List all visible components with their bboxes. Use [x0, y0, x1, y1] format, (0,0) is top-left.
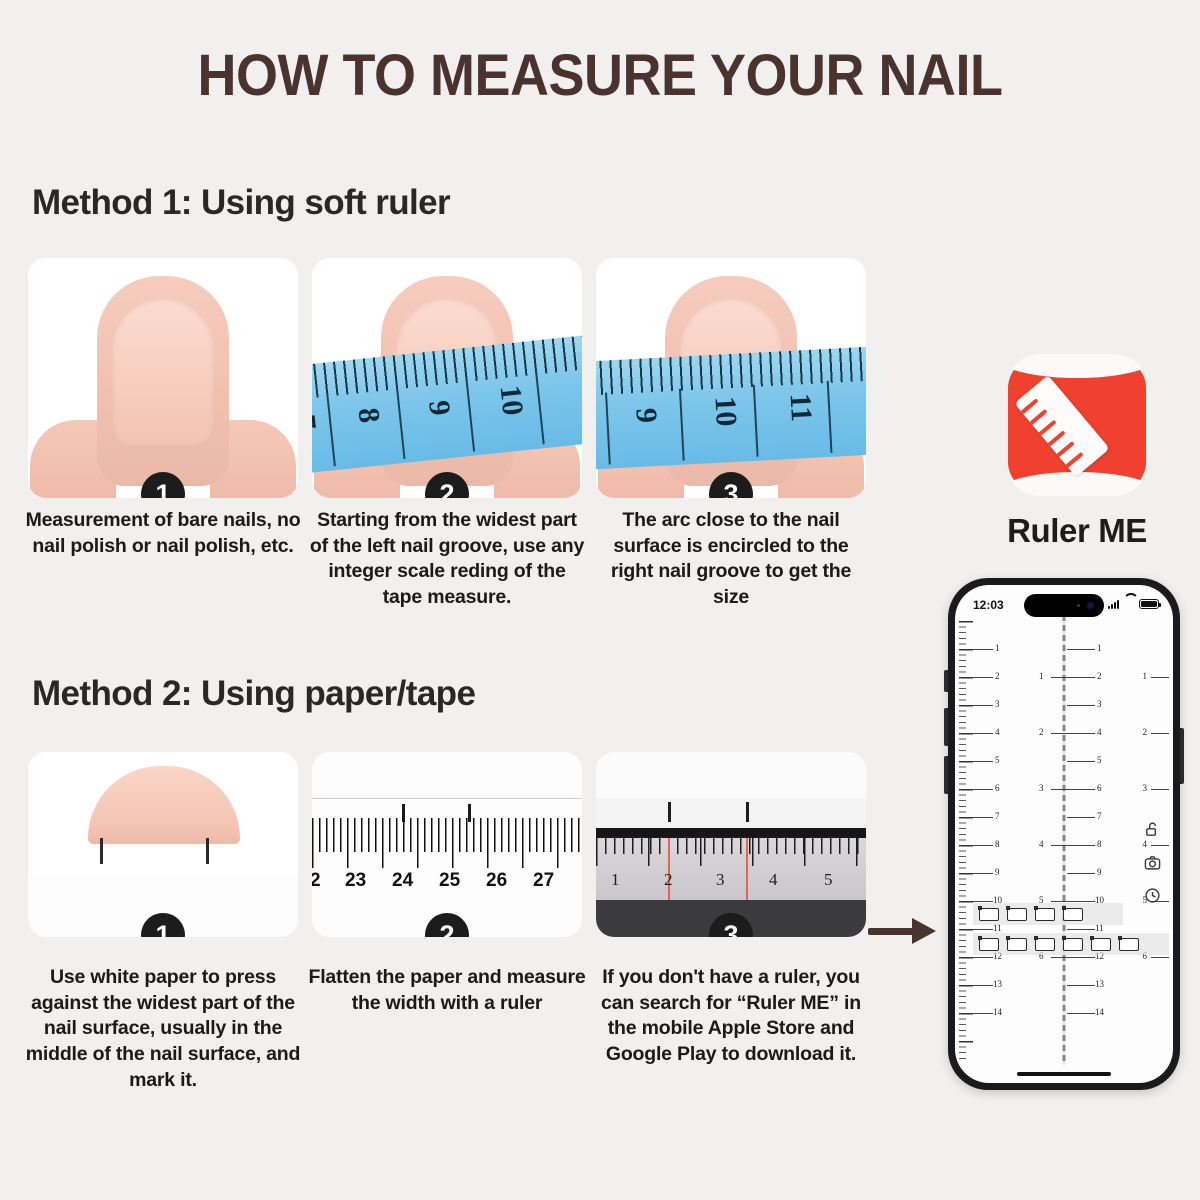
method-1-step-3-card: 8 9 10 11 3: [596, 258, 866, 498]
scale-leader-line: [1067, 677, 1095, 678]
tape-number: 8: [351, 406, 386, 424]
scale-leader-line: [1067, 873, 1095, 874]
scale-leader-line: [973, 957, 993, 958]
history-icon[interactable]: [1144, 887, 1161, 904]
phone-bezel: [596, 828, 866, 838]
unlock-icon[interactable]: [1144, 821, 1161, 838]
status-bar-icons: [1108, 599, 1159, 609]
tape-divider: [605, 393, 611, 465]
camera-icon[interactable]: [1144, 854, 1161, 871]
scale-number: 7: [995, 811, 1000, 821]
scale-leader-line: [1067, 733, 1095, 734]
caliper-tool-row-top[interactable]: [973, 903, 1123, 925]
method-2-step-2-card: 2 23 24 25 26 27 2: [312, 752, 582, 937]
pen-mark-right: [746, 802, 749, 822]
method-2-step-2-caption: Flatten the paper and measure the width …: [308, 965, 586, 1016]
scale-leader-line: [973, 1013, 993, 1014]
app-promo-block: Ruler ME: [988, 354, 1166, 550]
method-2-step-1-card: 1: [28, 752, 298, 937]
caliper-tool-icon[interactable]: [1119, 938, 1139, 951]
scale-number: 6: [995, 783, 1000, 793]
caliper-tool-icon[interactable]: [1063, 938, 1083, 951]
ruler-number: 2: [312, 870, 321, 892]
scale-leader-line: [1067, 705, 1095, 706]
wifi-icon: [1123, 600, 1135, 609]
method-2-step-3-card: 1 2 3 4 5 3: [596, 752, 866, 937]
phone-ruler-number: 2: [664, 870, 673, 890]
scale-number: 2: [1143, 727, 1148, 737]
paper-measured-with-phone-ruler-photo: 1 2 3 4 5: [596, 752, 866, 937]
nail-plate-shape: [111, 298, 215, 448]
app-icon-wave-bottom: [1006, 472, 1148, 496]
ruler-app-icon[interactable]: [1006, 354, 1148, 496]
scale-number: 2: [1097, 671, 1102, 681]
scale-leader-line: [1067, 929, 1095, 930]
scale-number: 4: [1039, 839, 1044, 849]
scale-leader-line: [1067, 1013, 1095, 1014]
tape-divider: [679, 389, 685, 461]
scale-number: 1: [1143, 671, 1148, 681]
ruler-number: 25: [439, 870, 460, 892]
scale-leader-line: [1067, 649, 1095, 650]
tape-divider: [753, 385, 759, 457]
ruler-number: 24: [392, 870, 413, 892]
scale-number: 5: [995, 755, 1000, 765]
caliper-tool-icon[interactable]: [979, 908, 999, 921]
scale-leader-line: [973, 901, 993, 902]
scale-number: 8: [1097, 839, 1102, 849]
scale-number: 3: [995, 699, 1000, 709]
tape-number: 8: [596, 410, 601, 427]
scale-number: 1: [1039, 671, 1044, 681]
scale-number: 13: [1095, 979, 1104, 989]
sensor-dot-icon: [1077, 604, 1080, 607]
phone-ruler-number: 3: [716, 870, 725, 890]
tape-number: 9: [628, 407, 663, 424]
scale-number: 2: [995, 671, 1000, 681]
tape-number: 9: [421, 399, 456, 417]
blue-tape-measure: 8 9 10 11: [596, 346, 866, 470]
methods-container: Method 1: Using soft ruler 1 7: [0, 0, 900, 1200]
scale-number: 8: [995, 839, 1000, 849]
volume-up-button[interactable]: [944, 708, 948, 746]
scale-major-ticks: [959, 621, 973, 1061]
ruler-major-ticks: [312, 818, 582, 868]
home-indicator[interactable]: [1017, 1072, 1111, 1076]
tape-divider: [326, 394, 336, 466]
volume-down-button[interactable]: [944, 756, 948, 794]
scale-leader-line: [1151, 677, 1169, 678]
scale-leader-line: [1151, 789, 1169, 790]
ruler-number: 27: [533, 870, 554, 892]
scale-leader-line: [973, 789, 993, 790]
ruler-scale-center-right: 1 2 3 4 5 6 7 8 9 10 11 12 13 14: [1067, 621, 1127, 1061]
phone-screen[interactable]: 12:03 1 2: [955, 585, 1173, 1083]
silent-switch[interactable]: [944, 670, 948, 692]
scale-leader-line: [1151, 733, 1169, 734]
scale-leader-line: [973, 705, 993, 706]
front-camera-icon: [1086, 601, 1095, 610]
app-name-label: Ruler ME: [988, 512, 1166, 550]
phone-ruler-number: 4: [769, 870, 778, 890]
nail-dome-shape: [88, 766, 240, 844]
scale-leader-line: [973, 649, 993, 650]
ruler-number: 23: [345, 870, 366, 892]
method-1-step-1-card: 1: [28, 258, 298, 498]
phone-ruler-major-ticks: [596, 838, 866, 866]
caliper-tool-icon[interactable]: [1091, 938, 1111, 951]
scale-number: 9: [1097, 867, 1102, 877]
method-1-step-3-caption: The arc close to the nail surface is enc…: [592, 508, 870, 611]
scale-leader-line: [973, 873, 993, 874]
caliper-tool-icon[interactable]: [1035, 938, 1055, 951]
tape-number: 10: [707, 395, 743, 427]
scale-number: 3: [1143, 783, 1148, 793]
scale-number: 4: [995, 727, 1000, 737]
scale-number: 1: [995, 643, 1000, 653]
caliper-tool-icon[interactable]: [1063, 908, 1083, 921]
scale-leader-line: [1067, 789, 1095, 790]
method-2-step-3-caption: If you don't have a ruler, you can searc…: [592, 965, 870, 1068]
caliper-tool-icon[interactable]: [1035, 908, 1055, 921]
method-2-step-1-caption: Use white paper to press against the wid…: [24, 965, 302, 1094]
paper-measured-with-ruler-photo: 2 23 24 25 26 27: [312, 752, 582, 937]
scale-leader-line: [973, 733, 993, 734]
scale-leader-line: [973, 845, 993, 846]
dynamic-island: [1024, 594, 1104, 617]
bare-thumb-nail-photo: [28, 258, 298, 498]
scale-leader-line: [1067, 761, 1095, 762]
scale-number: 1: [1097, 643, 1102, 653]
scale-leader-line: [973, 761, 993, 762]
pen-mark-left: [100, 838, 103, 864]
caliper-tool-icon[interactable]: [1007, 938, 1027, 951]
points-to-phone-arrow: [868, 918, 944, 944]
scale-leader-line: [1067, 901, 1095, 902]
tape-tick-marks: [596, 346, 866, 396]
method-1-heading: Method 1: Using soft ruler: [32, 183, 450, 223]
scale-number: 14: [993, 1007, 1002, 1017]
scale-number: 9: [995, 867, 1000, 877]
scale-leader-line: [973, 677, 993, 678]
caliper-tool-row-bottom[interactable]: [973, 933, 1169, 955]
scale-number: 14: [1095, 1007, 1104, 1017]
scale-leader-line: [973, 929, 993, 930]
scale-number: 3: [1039, 783, 1044, 793]
paper-strip: [596, 798, 866, 828]
method-2-heading: Method 2: Using paper/tape: [32, 674, 475, 714]
pen-mark-right: [206, 838, 209, 864]
phone-ruler-number: 1: [611, 870, 620, 890]
pen-mark-left: [668, 802, 671, 822]
tape-divider: [535, 373, 545, 445]
paper-edge-line: [312, 798, 582, 799]
white-background: [596, 752, 866, 798]
tape-number: 7: [312, 413, 322, 431]
thumb-wrapped-tape-measure-photo: 8 9 10 11: [596, 258, 866, 498]
tape-number: 10: [492, 384, 529, 417]
thumb-body-shape: [97, 276, 229, 486]
scale-number: 4: [1097, 727, 1102, 737]
scale-leader-line: [973, 817, 993, 818]
scale-leader-line: [973, 985, 993, 986]
scale-leader-line: [1151, 957, 1169, 958]
scale-number: 6: [1097, 783, 1102, 793]
scale-number: 13: [993, 979, 1002, 989]
ruler-number: 26: [486, 870, 507, 892]
arrow-head: [912, 918, 936, 944]
app-side-toolbar: [1144, 821, 1161, 904]
scale-leader-line: [1067, 845, 1095, 846]
scale-number: 2: [1039, 727, 1044, 737]
caliper-tool-icon[interactable]: [979, 938, 999, 951]
phone-ruler-number: 5: [824, 870, 833, 890]
cellular-signal-icon: [1108, 600, 1119, 609]
nail-pressed-on-white-paper-photo: [28, 752, 298, 937]
status-bar-time: 12:03: [973, 598, 1004, 612]
method-1-step-2-card: 7 8 9 10 2: [312, 258, 582, 498]
scale-leader-line: [1067, 985, 1095, 986]
thumb-with-blue-tape-measure-photo: 7 8 9 10: [312, 258, 582, 498]
method-1-step-1-caption: Measurement of bare nails, no nail polis…: [24, 508, 302, 559]
phone-mockup: 12:03 1 2: [948, 578, 1180, 1090]
tape-divider: [396, 387, 406, 459]
method-1-step-2-caption: Starting from the widest part of the lef…: [308, 508, 586, 611]
tape-number: 11: [783, 392, 818, 422]
ruler-scale-left: 1 2 3 4 5 6 7 8 9 10 11 12 13 14: [959, 621, 1019, 1061]
scale-number: 3: [1097, 699, 1102, 709]
power-button[interactable]: [1180, 728, 1184, 784]
scale-leader-line: [1067, 817, 1095, 818]
scale-leader-line: [1067, 957, 1095, 958]
caliper-tool-icon[interactable]: [1007, 908, 1027, 921]
tape-divider: [466, 380, 476, 452]
tape-divider: [827, 381, 833, 453]
scale-number: 7: [1097, 811, 1102, 821]
scale-number: 5: [1097, 755, 1102, 765]
battery-icon: [1139, 599, 1159, 609]
